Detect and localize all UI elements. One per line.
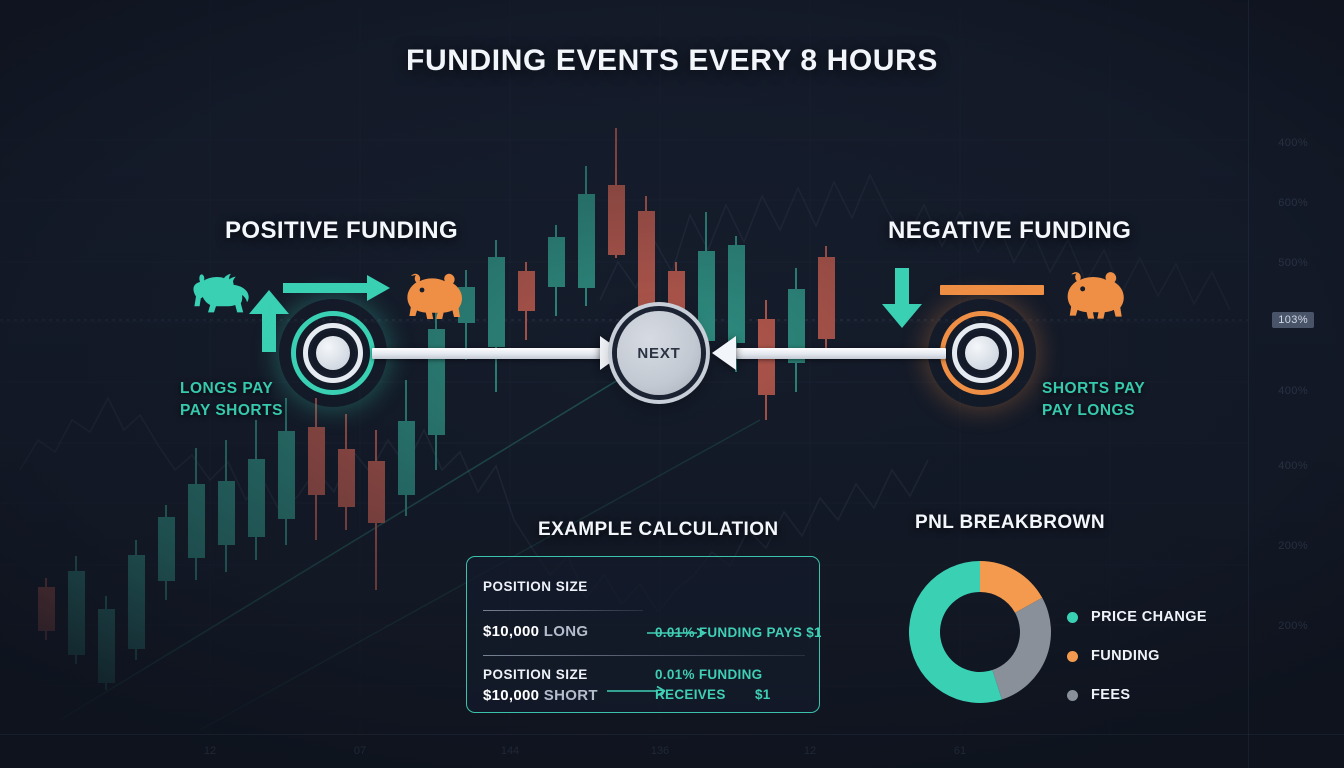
time-tick: 12 <box>204 745 216 757</box>
node-core <box>316 336 350 370</box>
row2-position-size-label: POSITION SIZE <box>483 667 588 682</box>
legend-dot-price-change <box>1067 612 1078 623</box>
row2-amount: $10,000 SHORT <box>483 687 598 704</box>
legend-item-funding: FUNDING <box>1067 646 1207 666</box>
legend-label-funding: FUNDING <box>1091 648 1160 664</box>
price-tick: 200% <box>1278 620 1308 632</box>
legend-item-fees: FEES <box>1067 685 1207 705</box>
legend-dot-funding <box>1067 651 1078 662</box>
row2-amount-value: $10,000 <box>483 687 539 704</box>
next-node-label: NEXT <box>637 345 680 362</box>
connector-left <box>372 348 604 359</box>
price-tick: 600% <box>1278 197 1308 209</box>
page-title: FUNDING EVENTS EVERY 8 HOURS <box>0 44 1344 78</box>
time-axis: 12 07 144 136 12 61 <box>0 734 1344 768</box>
row1-amount: $10,000 LONG <box>483 623 588 640</box>
pnl-legend: PRICE CHANGE FUNDING FEES <box>1067 607 1207 705</box>
arrow-up-icon <box>249 290 289 352</box>
positive-funding-title: POSITIVE FUNDING <box>225 217 458 245</box>
negative-funding-node[interactable] <box>940 311 1024 395</box>
price-tick: 400% <box>1278 385 1308 397</box>
row1-amount-value: $10,000 <box>483 623 539 640</box>
pnl-donut-chart <box>905 557 1055 707</box>
row1-divider <box>483 610 643 611</box>
price-axis: 400% 600% 500% 200% 103% 400% 400% 200% … <box>1248 0 1344 768</box>
time-tick: 07 <box>354 745 366 757</box>
price-tick: 500% <box>1278 257 1308 269</box>
row1-position-size-label: POSITION SIZE <box>483 579 588 594</box>
negative-funding-title: NEGATIVE FUNDING <box>888 217 1131 245</box>
row2-result-line2: RECEIVES <box>655 685 726 704</box>
arrow-right-icon <box>283 275 390 301</box>
row2-result-line1: 0.01% FUNDING <box>655 665 762 684</box>
legend-label-fees: FEES <box>1091 687 1130 703</box>
price-tick: 400% <box>1278 137 1308 149</box>
orange-bar-icon <box>940 285 1044 295</box>
time-tick: 61 <box>954 745 966 757</box>
positive-funding-caption: LONGS PAY PAY SHORTS <box>180 378 283 422</box>
arrow-down-icon <box>882 268 922 328</box>
donut-slice <box>992 598 1051 700</box>
negative-caption-line1: SHORTS PAY <box>1042 378 1145 400</box>
row1-result: 0.01% FUNDING PAYS $1 <box>655 623 821 642</box>
legend-item-price-change: PRICE CHANGE <box>1067 607 1207 627</box>
time-tick: 12 <box>804 745 816 757</box>
time-tick: 144 <box>501 745 519 757</box>
time-tick: 136 <box>651 745 669 757</box>
bear-icon <box>398 270 470 320</box>
pnl-breakdown-title: PNL BREAKBROWN <box>915 512 1105 534</box>
negative-funding-caption: SHORTS PAY PAY LONGS <box>1042 378 1145 422</box>
price-tick: 400% <box>1278 460 1308 472</box>
node-core <box>965 336 999 370</box>
negative-caption-line2: PAY LONGS <box>1042 400 1145 422</box>
next-funding-node[interactable]: NEXT <box>617 311 701 395</box>
connector-right <box>736 348 946 359</box>
row1-side: LONG <box>544 623 589 640</box>
row2-side: SHORT <box>544 687 598 704</box>
price-tick: 200% <box>1278 540 1308 552</box>
calculation-box: POSITION SIZE $10,000 LONG 0.01% FUNDING… <box>466 556 820 713</box>
positive-funding-node[interactable] <box>291 311 375 395</box>
calculation-title: EXAMPLE CALCULATION <box>538 519 779 541</box>
current-price-label: 103% <box>1272 312 1314 328</box>
legend-label-price-change: PRICE CHANGE <box>1091 609 1207 625</box>
row2-divider <box>483 655 805 656</box>
positive-caption-line1: LONGS PAY <box>180 378 283 400</box>
legend-dot-fees <box>1067 690 1078 701</box>
bear-icon <box>1058 268 1132 320</box>
connector-right-arrowhead <box>712 336 736 370</box>
row2-result-amount: $1 <box>755 685 771 704</box>
positive-caption-line2: PAY SHORTS <box>180 400 283 422</box>
